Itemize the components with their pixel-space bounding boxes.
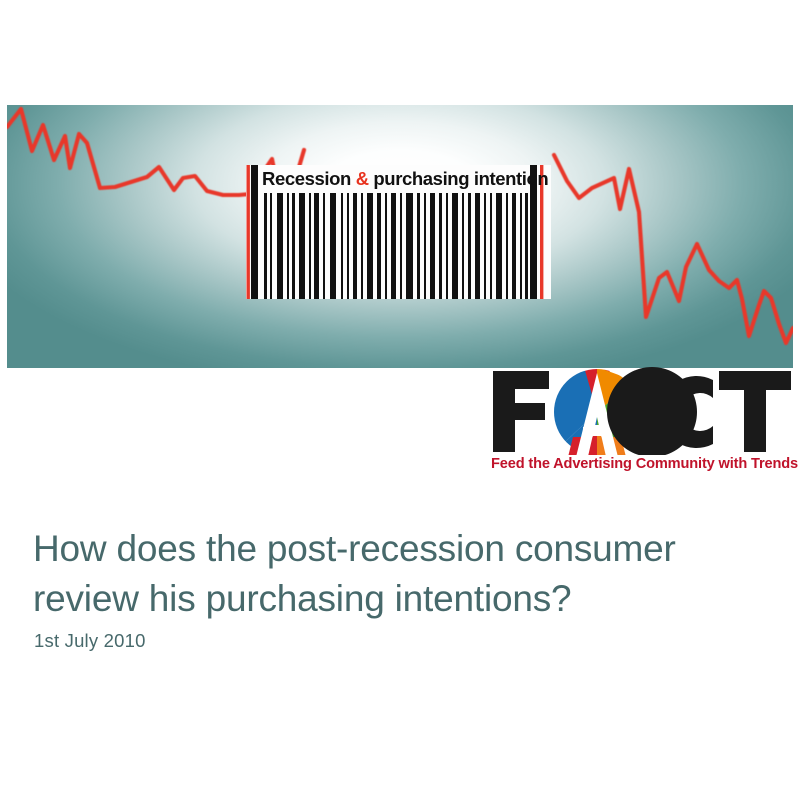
- logo-tagline: Feed the Advertising Community with Tren…: [491, 455, 795, 473]
- barcode-label-prefix: Recession: [262, 168, 356, 189]
- logo-letter-c: [607, 367, 724, 455]
- logo-letter-f: [493, 371, 549, 452]
- slide-root: Recession & purchasing intention: [0, 0, 800, 800]
- fact-logo: Feed the Advertising Community with Tren…: [489, 367, 795, 475]
- barcode-label: Recession & purchasing intention: [262, 166, 534, 192]
- logo-letter-t: [719, 371, 791, 452]
- barcode-label-suffix: purchasing intention: [369, 168, 549, 189]
- barcode-graphic: Recession & purchasing intention: [246, 165, 551, 299]
- barcode-label-ampersand: &: [356, 168, 369, 189]
- page-title: How does the post-recession consumer rev…: [33, 524, 763, 624]
- fact-logo-mark: [489, 367, 795, 455]
- page-date: 1st July 2010: [34, 629, 146, 653]
